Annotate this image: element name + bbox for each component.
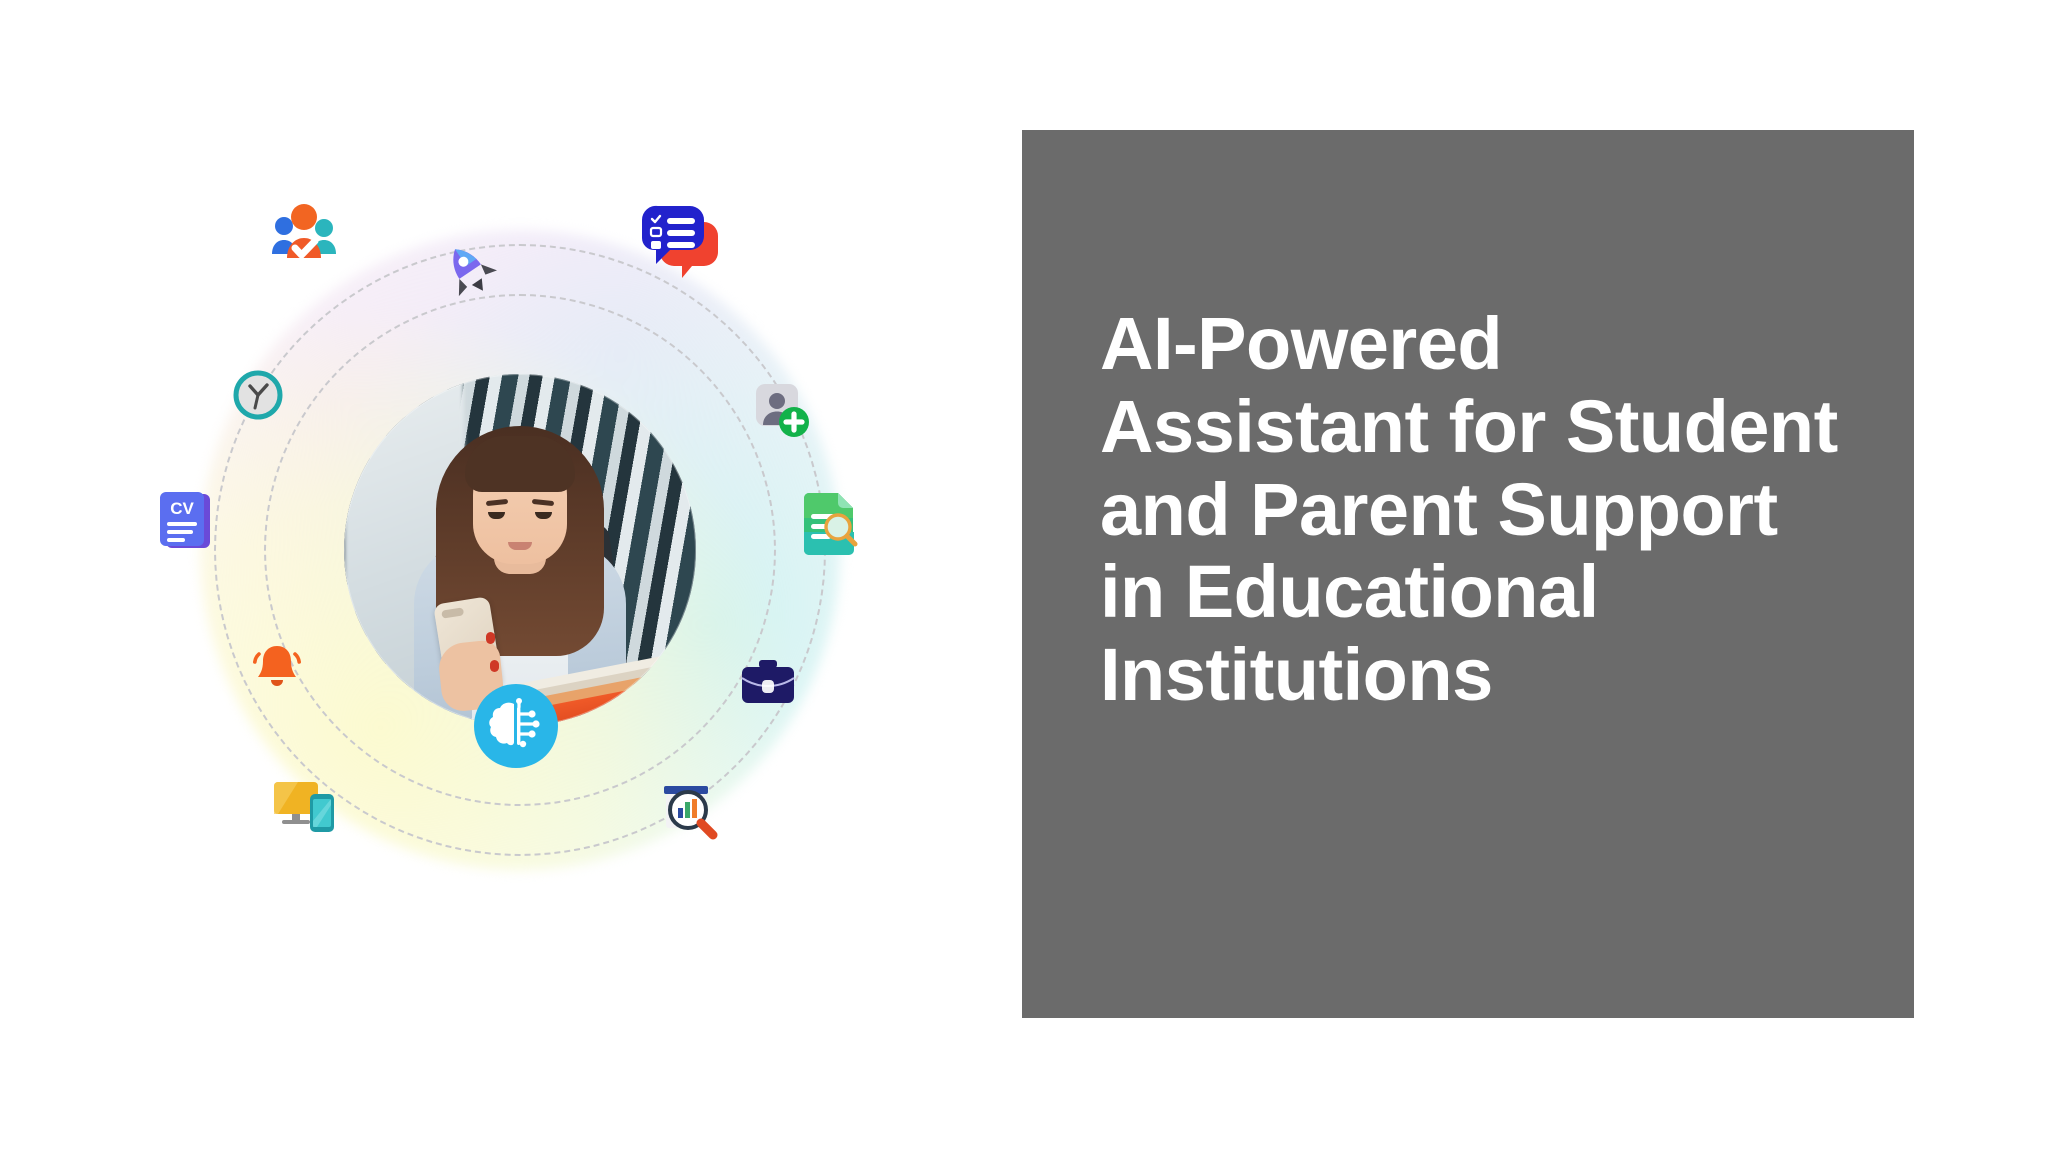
- page-title: AI-Powered Assistant for Student and Par…: [1022, 303, 1898, 717]
- devices-icon: [272, 780, 338, 834]
- document-search-icon: [798, 492, 860, 556]
- hero-illustration: CV: [150, 180, 890, 920]
- rocket-icon: [440, 242, 498, 298]
- briefcase-icon: [740, 658, 796, 706]
- analytics-search-icon: [658, 780, 722, 840]
- add-user-icon: [754, 382, 814, 440]
- verified-group-icon: [268, 202, 340, 268]
- ai-brain-circuit-icon: [470, 680, 562, 772]
- student-photo: [344, 374, 696, 726]
- title-panel: AI-Powered Assistant for Student and Par…: [1022, 130, 1914, 1018]
- chat-checklist-icon: [640, 202, 716, 274]
- bell-icon: [250, 640, 304, 694]
- svg-text:CV: CV: [170, 499, 194, 518]
- clock-icon: [233, 370, 283, 420]
- cv-document-icon: CV: [158, 490, 216, 552]
